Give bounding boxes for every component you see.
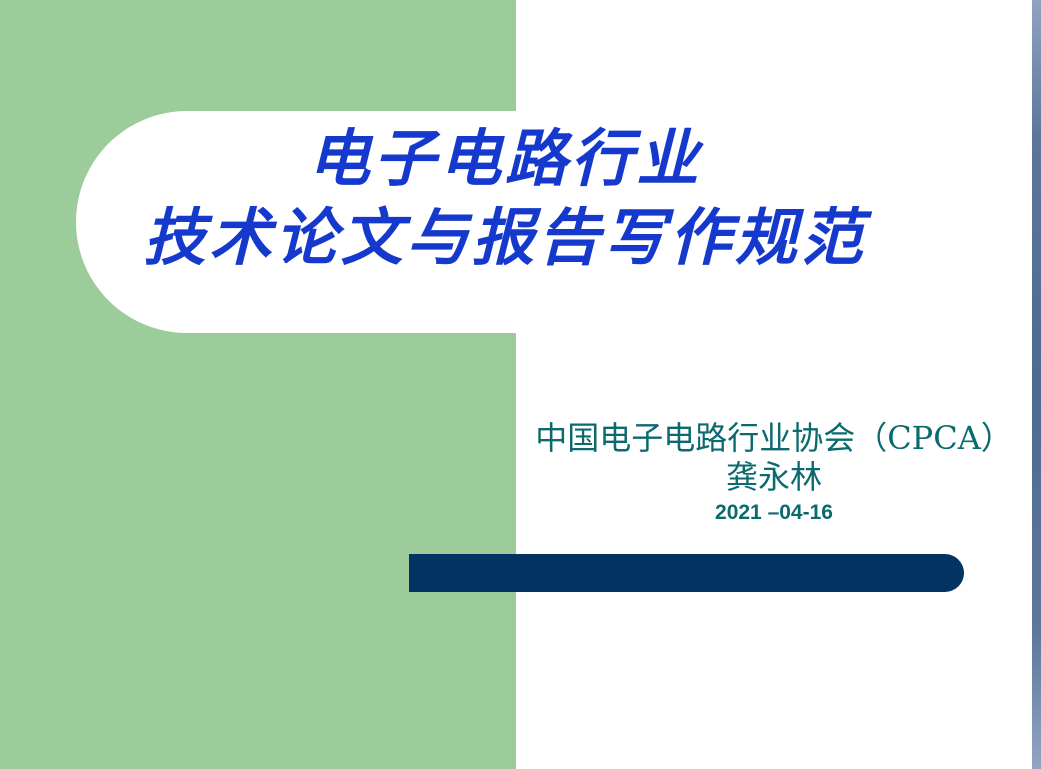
author-name: 龚永林 xyxy=(516,458,1032,496)
title-plate-shape xyxy=(76,111,976,333)
slide-subtitle: 中国电子电路行业协会（CPCA） 龚永林 2021 –04-16 xyxy=(516,418,1032,528)
organization-name: 中国电子电路行业协会（CPCA） xyxy=(516,418,1032,458)
presentation-date: 2021 –04-16 xyxy=(516,498,1032,528)
right-edge-strip xyxy=(1032,0,1041,769)
navy-accent-bar xyxy=(409,554,964,592)
presentation-title-slide: 电子电路行业 技术论文与报告写作规范 中国电子电路行业协会（CPCA） 龚永林 … xyxy=(0,0,1041,769)
